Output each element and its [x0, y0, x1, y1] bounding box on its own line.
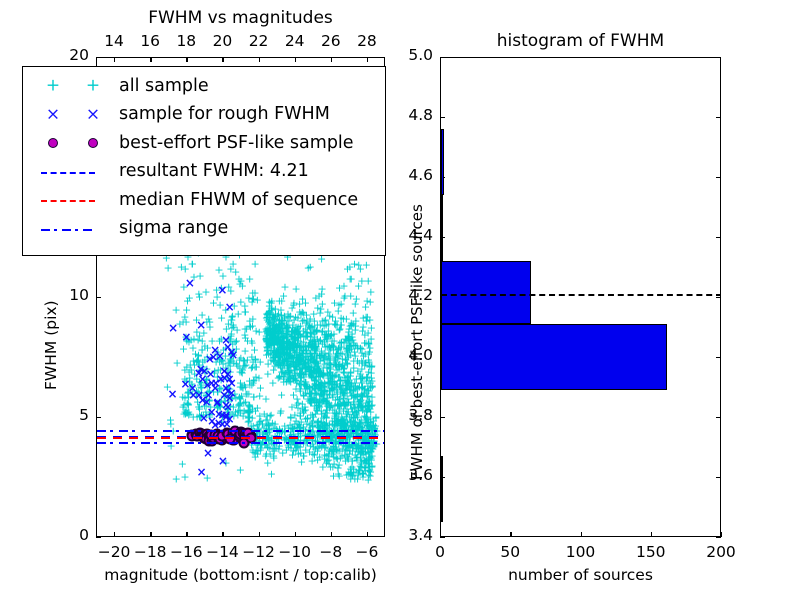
histogram-bar — [441, 195, 443, 261]
legend-item-0: ++all sample — [31, 72, 377, 101]
all-sample-point: + — [336, 452, 345, 463]
all-sample-point: + — [360, 337, 369, 348]
histogram-xtick-label: 0 — [400, 543, 480, 561]
plus-icon: ++ — [31, 72, 119, 100]
dashdot-line-icon — [31, 215, 119, 243]
histogram-ylabel: FWHM of best-effort PSF-like sources — [408, 204, 426, 480]
all-sample-point: + — [352, 293, 361, 304]
legend-item-3: resultant FWHM: 4.21 — [31, 158, 377, 187]
scatter-ytick-label: 5 — [9, 406, 89, 424]
rough-fwhm-point: × — [207, 415, 217, 427]
legend-item-2: best-effort PSF-like sample — [31, 129, 377, 158]
all-sample-point: + — [248, 314, 257, 325]
all-sample-point: + — [172, 473, 181, 484]
all-sample-point: + — [345, 321, 354, 332]
all-sample-point: + — [229, 320, 238, 331]
all-sample-point: + — [264, 358, 273, 369]
hline-median-fhwm-of-sequence — [97, 437, 384, 439]
scatter-title: FWHM vs magnitudes — [96, 8, 385, 28]
all-sample-point: + — [285, 375, 294, 386]
all-sample-point: + — [291, 283, 300, 294]
rough-fwhm-point: × — [196, 319, 206, 331]
all-sample-point: + — [364, 475, 373, 486]
legend-item-label: resultant FWHM: 4.21 — [119, 163, 309, 181]
all-sample-point: + — [308, 455, 317, 466]
all-sample-point: + — [306, 356, 315, 367]
rough-fwhm-point: × — [203, 389, 213, 401]
histogram-xtick-label: 100 — [541, 543, 621, 561]
rough-fwhm-point: × — [203, 447, 213, 459]
all-sample-point: + — [309, 412, 318, 423]
legend-box: ++all sample××sample for rough FWHMbest-… — [22, 66, 386, 256]
filled-circle-icon — [31, 129, 119, 157]
all-sample-point: + — [177, 261, 186, 272]
all-sample-point: + — [342, 342, 351, 353]
all-sample-point: + — [277, 389, 286, 400]
all-sample-point: + — [239, 361, 248, 372]
histogram-xtick-label: 50 — [470, 543, 550, 561]
all-sample-point: + — [363, 458, 372, 469]
all-sample-point: + — [361, 301, 370, 312]
histogram-xlabel: number of sources — [440, 566, 721, 584]
tick-mark — [96, 537, 101, 538]
all-sample-point: + — [292, 353, 301, 364]
all-sample-point: + — [349, 308, 358, 319]
all-sample-point: + — [339, 292, 348, 303]
all-sample-point: + — [267, 296, 276, 307]
dashed-line-icon — [31, 158, 119, 186]
all-sample-point: + — [178, 401, 187, 412]
rough-fwhm-point: × — [218, 455, 228, 467]
rough-fwhm-point: × — [181, 331, 191, 343]
all-sample-point: + — [317, 288, 326, 299]
all-sample-point: + — [236, 464, 245, 475]
all-sample-point: + — [248, 446, 257, 457]
all-sample-point: + — [301, 318, 310, 329]
all-sample-point: + — [296, 383, 305, 394]
all-sample-point: + — [321, 320, 330, 331]
legend-item-label: median FHWM of sequence — [119, 192, 358, 210]
cross-icon: ×× — [31, 101, 119, 129]
all-sample-point: + — [276, 406, 285, 417]
dashed-line-icon — [31, 186, 119, 214]
all-sample-point: + — [297, 457, 306, 468]
all-sample-point: + — [214, 264, 223, 275]
histogram-bar — [441, 324, 667, 390]
histogram-title: histogram of FWHM — [440, 31, 721, 51]
all-sample-point: + — [339, 364, 348, 375]
scatter-ytick-label: 0 — [9, 526, 89, 544]
scatter-ylabel: FWHM (pix) — [42, 300, 60, 390]
all-sample-point: + — [209, 297, 218, 308]
all-sample-point: + — [319, 362, 328, 373]
all-sample-point: + — [185, 293, 194, 304]
all-sample-point: + — [335, 324, 344, 335]
histogram-bar — [441, 456, 443, 522]
all-sample-point: + — [256, 382, 265, 393]
all-sample-point: + — [342, 403, 351, 414]
all-sample-point: + — [250, 258, 259, 269]
all-sample-point: + — [371, 412, 380, 423]
tick-mark — [716, 537, 721, 538]
all-sample-point: + — [362, 315, 371, 326]
all-sample-point: + — [362, 259, 371, 270]
all-sample-point: + — [236, 276, 245, 287]
legend-item-4: median FHWM of sequence — [31, 186, 377, 215]
rough-fwhm-point: × — [194, 367, 204, 379]
hline-sigma-range-lower — [97, 442, 384, 444]
legend-item-1: ××sample for rough FWHM — [31, 101, 377, 130]
rough-fwhm-point: × — [196, 466, 206, 478]
all-sample-point: + — [346, 274, 355, 285]
all-sample-point: + — [330, 411, 339, 422]
all-sample-point: + — [301, 332, 310, 343]
rough-fwhm-point: × — [168, 322, 178, 334]
all-sample-point: + — [234, 405, 243, 416]
all-sample-point: + — [364, 276, 373, 287]
legend-item-5: sigma range — [31, 215, 377, 244]
tick-mark — [721, 532, 722, 537]
all-sample-point: + — [274, 372, 283, 383]
figure-canvas: FWHM vs magnitudes +++++++++++++++++++++… — [0, 0, 800, 600]
all-sample-point: + — [298, 294, 307, 305]
all-sample-point: + — [358, 405, 367, 416]
all-sample-point: + — [320, 377, 329, 388]
legend-item-label: sample for rough FWHM — [119, 106, 330, 124]
all-sample-point: + — [269, 453, 278, 464]
all-sample-point: + — [226, 263, 235, 274]
all-sample-point: + — [347, 461, 356, 472]
histogram-resultant-fwhm-line — [441, 294, 720, 296]
all-sample-point: + — [217, 313, 226, 324]
all-sample-point: + — [357, 378, 366, 389]
all-sample-point: + — [248, 294, 257, 305]
scatter-xtick-label: −6 — [327, 543, 407, 561]
all-sample-point: + — [178, 458, 187, 469]
histogram-bar — [441, 129, 444, 195]
all-sample-point: + — [251, 406, 260, 417]
all-sample-point: + — [180, 365, 189, 376]
all-sample-point: + — [304, 263, 313, 274]
all-sample-point: + — [289, 298, 298, 309]
all-sample-point: + — [267, 341, 276, 352]
scatter-ytick-label: 20 — [9, 46, 89, 64]
all-sample-point: + — [267, 468, 276, 479]
hline-sigma-range-upper — [97, 430, 384, 432]
all-sample-point: + — [277, 296, 286, 307]
all-sample-point: + — [172, 305, 181, 316]
all-sample-point: + — [280, 281, 289, 292]
all-sample-point: + — [275, 334, 284, 345]
rough-fwhm-point: × — [187, 382, 197, 394]
rough-fwhm-point: × — [185, 277, 195, 289]
all-sample-point: + — [310, 332, 319, 343]
all-sample-point: + — [321, 331, 330, 342]
legend-item-label: all sample — [119, 78, 209, 96]
all-sample-point: + — [182, 304, 191, 315]
all-sample-point: + — [360, 360, 369, 371]
histogram-plot-area — [441, 58, 720, 536]
all-sample-point: + — [273, 310, 282, 321]
legend-item-label: best-effort PSF-like sample — [119, 135, 354, 153]
histogram-bar — [441, 261, 531, 324]
rough-fwhm-point: × — [167, 388, 177, 400]
rough-fwhm-point: × — [227, 377, 237, 389]
histogram-xtick-label: 200 — [681, 543, 761, 561]
rough-fwhm-point: × — [215, 350, 225, 362]
all-sample-point: + — [354, 280, 363, 291]
all-sample-point: + — [316, 308, 325, 319]
rough-fwhm-point: × — [225, 301, 235, 313]
rough-fwhm-point: × — [217, 284, 227, 296]
legend-item-label: sigma range — [119, 220, 228, 238]
histogram-xtick-label: 150 — [611, 543, 691, 561]
all-sample-point: + — [180, 471, 189, 482]
tick-mark — [440, 537, 445, 538]
rough-fwhm-point: × — [228, 349, 238, 361]
scatter-xlabel: magnitude (bottom:isnt / top:calib) — [96, 566, 385, 584]
all-sample-point: + — [295, 368, 304, 379]
all-sample-point: + — [308, 368, 317, 379]
all-sample-point: + — [342, 380, 351, 391]
